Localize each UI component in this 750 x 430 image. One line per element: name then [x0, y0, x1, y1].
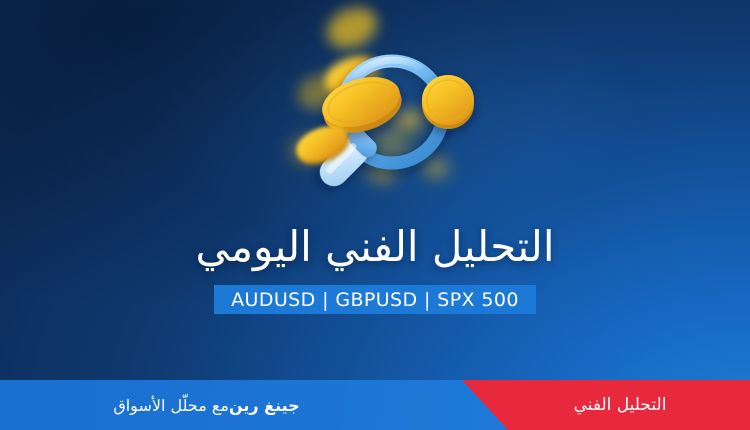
- page-title: التحليل الفني اليومي: [0, 221, 750, 273]
- magnifying-glass-with-coins-illustration: [260, 0, 510, 215]
- footer-bar: جينغ رين مع محلّل الأسواق التحليل الفني: [0, 380, 750, 430]
- instruments-badge-container: AUDUSD | GBPUSD | SPX 500: [0, 285, 750, 314]
- promo-banner: التحليل الفني اليومي AUDUSD | GBPUSD | S…: [0, 0, 750, 430]
- footer-category-label: التحليل الفني: [490, 380, 750, 430]
- footer-analyst-prefix: مع محلّل الأسواق: [113, 396, 229, 415]
- instruments-badge: AUDUSD | GBPUSD | SPX 500: [214, 285, 536, 314]
- footer-analyst-name: جينغ رين: [229, 396, 300, 415]
- coin-glint-lens: [386, 100, 434, 140]
- footer-category-text: التحليل الفني: [574, 395, 667, 415]
- footer-analyst-credit: جينغ رين مع محلّل الأسواق: [0, 380, 420, 430]
